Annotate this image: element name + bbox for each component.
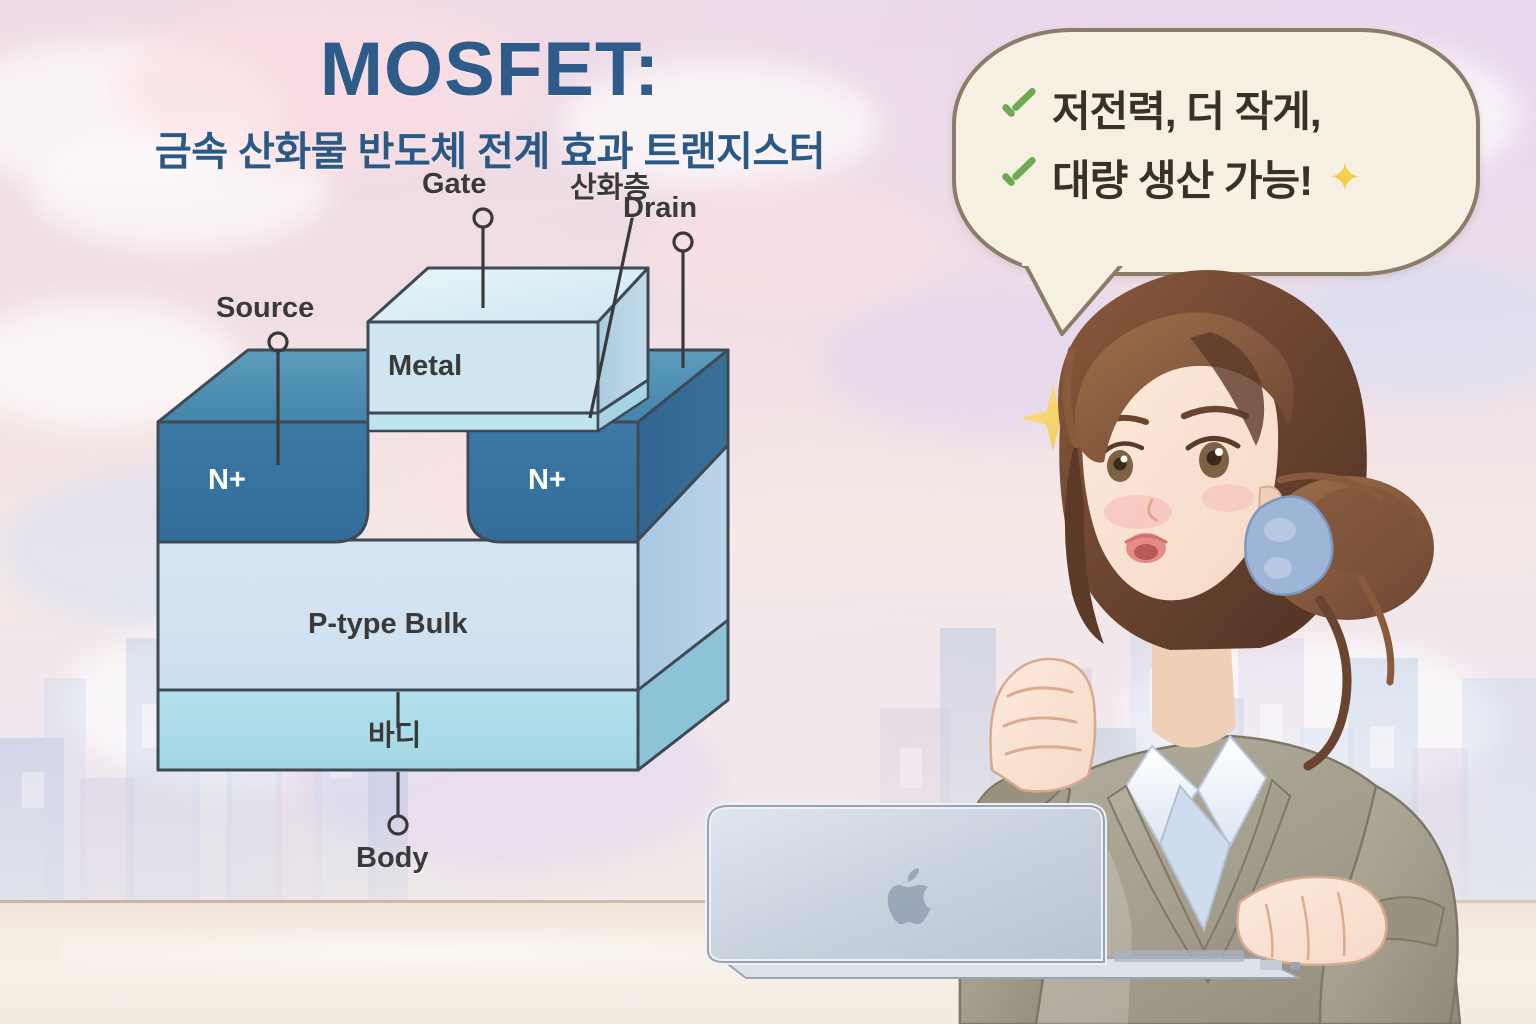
region-label-n-plus-right: N+ bbox=[528, 464, 566, 497]
laptop bbox=[700, 790, 1320, 990]
region-label-p-type-bulk: P-type Bulk bbox=[308, 608, 468, 641]
page-title: MOSFET: bbox=[90, 34, 890, 107]
page-subtitle: 금속 산화물 반도체 전계 효과 트랜지스터 bbox=[90, 119, 890, 177]
check-mark-icon bbox=[996, 88, 1038, 130]
region-label-n-plus-left: N+ bbox=[208, 464, 246, 497]
poster-canvas: MOSFET: 금속 산화물 반도체 전계 효과 트랜지스터 저전력, 더 작게… bbox=[0, 0, 1536, 1024]
bubble-line-2-text: 대량 생산 가능! bbox=[1052, 147, 1312, 208]
bubble-line-1: 저전력, 더 작게, bbox=[996, 78, 1452, 139]
bubble-line-1-text: 저전력, 더 작게, bbox=[1052, 78, 1321, 139]
bubble-line-2: 대량 생산 가능! ✦ bbox=[996, 147, 1452, 208]
callout-label-source: Source bbox=[216, 292, 314, 325]
callout-label-gate: Gate bbox=[422, 168, 486, 201]
callout-label-body: Body bbox=[356, 842, 429, 875]
region-label-metal: Metal bbox=[388, 350, 462, 383]
region-label-body-layer: 바디 bbox=[368, 712, 421, 754]
speech-bubble-content: 저전력, 더 작게, 대량 생산 가능! ✦ bbox=[996, 78, 1452, 216]
mosfet-diagram: Metal N+ N+ P-type Bulk 바디 Source Gate 산… bbox=[128, 250, 768, 850]
callout-label-drain: Drain bbox=[623, 192, 697, 225]
check-mark-icon bbox=[996, 157, 1038, 199]
title-block: MOSFET: 금속 산화물 반도체 전계 효과 트랜지스터 bbox=[90, 34, 890, 177]
sparkle-glyph-icon: ✦ bbox=[1328, 155, 1362, 201]
